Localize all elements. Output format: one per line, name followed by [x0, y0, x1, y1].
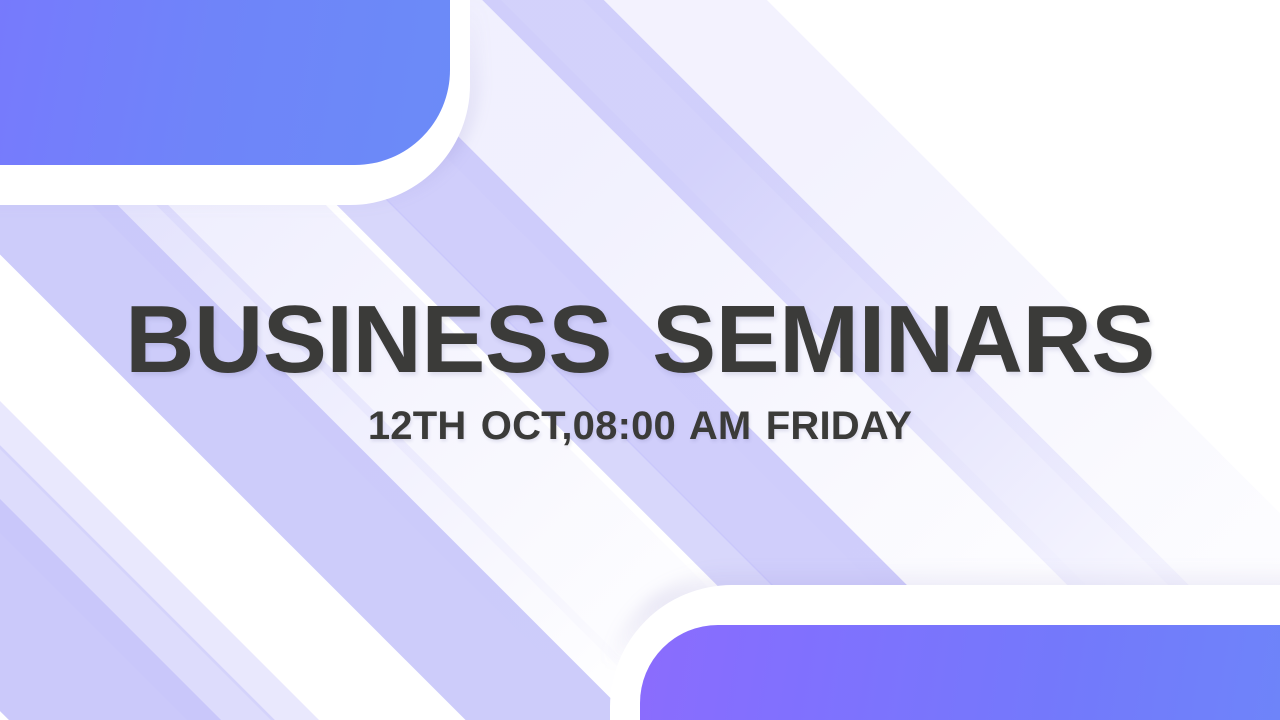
event-datetime-subtitle: 12TH OCT,08:00 AM FRIDAY	[0, 406, 1280, 446]
bottom-right-gradient-plate	[640, 625, 1280, 720]
top-left-gradient-plate	[0, 0, 450, 165]
page-title: BUSINESS SEMINARS	[0, 292, 1280, 388]
event-banner: BUSINESS SEMINARS 12TH OCT,08:00 AM FRID…	[0, 0, 1280, 720]
banner-text-block: BUSINESS SEMINARS 12TH OCT,08:00 AM FRID…	[0, 292, 1280, 446]
